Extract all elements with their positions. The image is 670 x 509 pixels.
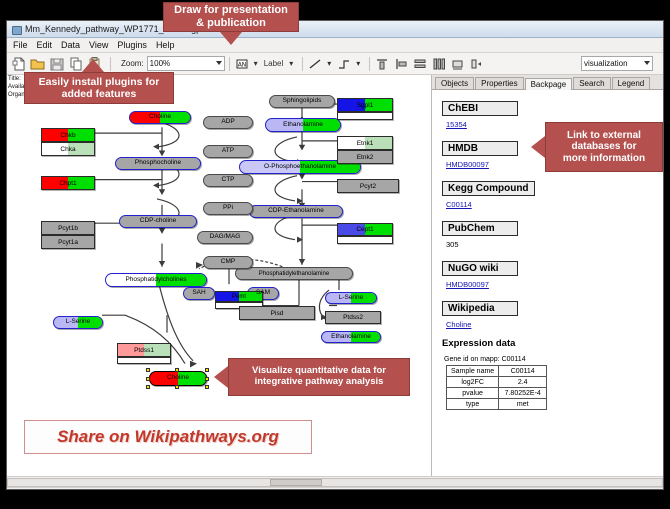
menu-view[interactable]: View: [89, 40, 108, 50]
menu-plugins[interactable]: Plugins: [117, 40, 147, 50]
cell-value: 2.4: [499, 377, 547, 388]
node-label: CDP-Ethanolamine: [268, 208, 324, 215]
gene-id-line: Gene id on mapp: C00114: [444, 356, 663, 363]
align-left-icon[interactable]: [393, 56, 409, 72]
selection-handle-w[interactable]: [146, 377, 150, 381]
toolbar-separator-3: [302, 57, 303, 71]
line-icon[interactable]: [307, 56, 323, 72]
group-icon[interactable]: [450, 56, 466, 72]
selection-handle-nw[interactable]: [146, 368, 150, 372]
selection-handle-ne[interactable]: [205, 368, 209, 372]
section-header-chebi: ChEBI: [442, 101, 518, 116]
callout-share: Share on Wikipathways.org: [24, 420, 312, 454]
cell-key: pvalue: [447, 388, 499, 399]
table-row: log2FC 2.4: [447, 377, 547, 388]
node-ctp[interactable]: CTP: [203, 174, 253, 187]
callout-link-arrow-icon: [531, 136, 545, 158]
zoom-value: 100%: [150, 59, 170, 68]
node-label: L-Serine: [339, 295, 364, 302]
visualization-combobox[interactable]: visualization: [581, 56, 653, 71]
gene-label: Chka: [60, 146, 75, 153]
label-dropdown-arrow[interactable]: ▾: [289, 59, 293, 68]
selection-handle-s[interactable]: [175, 385, 179, 389]
chevron-down-icon-2: [644, 61, 650, 65]
cell-value: C00114: [499, 366, 547, 377]
gene-chka[interactable]: Chka: [41, 142, 95, 156]
chevron-down-icon: [216, 61, 222, 65]
gene-pcyt1a[interactable]: Pcyt1a: [41, 235, 95, 249]
gene-ptdss1-lower[interactable]: [117, 357, 171, 364]
zoom-label: Zoom:: [121, 59, 144, 68]
line-dropdown-arrow[interactable]: ▾: [327, 59, 331, 68]
node-label: CTP: [222, 177, 235, 184]
node-ethanolamine[interactable]: Ethanolamine: [265, 118, 341, 132]
node-label: SAH: [192, 290, 205, 297]
gene-sgpl1-lower[interactable]: [337, 112, 393, 120]
node-choline-selected[interactable]: Choline: [149, 371, 207, 386]
section-header-nugo: NuGO wiki: [442, 261, 518, 276]
menubar: File Edit Data View Plugins Help: [7, 38, 663, 53]
gene-label: Pisd: [271, 310, 284, 317]
node-label: ADP: [221, 119, 234, 126]
node-ppi[interactable]: PPi: [203, 202, 253, 215]
gene-pisd[interactable]: Pisd: [239, 306, 315, 320]
datanode-dropdown-arrow[interactable]: ▾: [254, 59, 258, 68]
node-choline-top[interactable]: Choline: [129, 111, 191, 124]
callout-link-line2: databases for: [571, 141, 636, 153]
node-label: Sphingolipids: [283, 98, 322, 105]
node-label: ATP: [222, 148, 234, 155]
pathway-info-strip: Title: Availa Organ: [7, 75, 21, 117]
gene-chkb[interactable]: Chkb: [41, 128, 95, 142]
callout-link-line1: Link to external: [567, 130, 641, 142]
scrollbar-thumb[interactable]: [270, 479, 322, 486]
node-label: PPi: [223, 205, 233, 212]
gene-label: Cept1: [356, 226, 373, 233]
selection-handle-n[interactable]: [175, 368, 179, 372]
open-folder-icon[interactable]: [30, 56, 46, 72]
menu-data[interactable]: Data: [61, 40, 80, 50]
gene-label: Etnk2: [357, 154, 374, 161]
connector-dropdown-arrow[interactable]: ▾: [356, 59, 360, 68]
node-label: Choline: [149, 114, 171, 121]
scrollbar-track[interactable]: [7, 478, 663, 487]
node-l-serine-left[interactable]: L-Serine: [53, 316, 103, 329]
new-file-icon[interactable]: [11, 56, 27, 72]
callout-draw: Draw for presentation & publication: [163, 2, 299, 32]
side-panel-tabs: Objects Properties Backpage Search Legen…: [432, 75, 663, 90]
window-titlebar: Mm_Kennedy_pathway_WP1771_45176.gpml: [7, 21, 663, 38]
gene-label: Chkb: [60, 132, 75, 139]
node-label: SAM: [256, 290, 270, 297]
cell-value: met: [499, 399, 547, 410]
gene-etnk1[interactable]: Etnk1: [337, 136, 393, 150]
node-label: CDP-choline: [140, 218, 177, 225]
pathway-canvas[interactable]: Title: Availa Organ: [7, 75, 432, 476]
section-header-pubchem: PubChem: [442, 221, 518, 236]
callout-draw-line1: Draw for presentation: [174, 4, 288, 17]
value-pubchem: 305: [446, 240, 663, 249]
callout-visualize-arrow-icon: [214, 366, 228, 388]
tab-legend[interactable]: Legend: [612, 77, 651, 89]
selection-handle-se[interactable]: [205, 385, 209, 389]
callout-link-line3: more information: [563, 153, 645, 165]
info-title-label: Title:: [8, 75, 21, 83]
node-phosphocholine[interactable]: Phosphocholine: [115, 157, 201, 170]
selection-handle-e[interactable]: [205, 377, 209, 381]
align-top-icon[interactable]: [374, 56, 390, 72]
order-icon[interactable]: [469, 56, 485, 72]
node-label: Phosphatidylethanolamine: [259, 271, 329, 277]
zoom-combobox[interactable]: 100%: [147, 56, 225, 71]
table-row: Sample name C00114: [447, 366, 547, 377]
node-label: DAG/MAG: [210, 234, 241, 241]
menu-help[interactable]: Help: [156, 40, 175, 50]
cell-key: Sample name: [447, 366, 499, 377]
callout-plugins-line2: added features: [62, 88, 137, 100]
gene-label: Pcyt2: [360, 183, 376, 190]
node-label: CMP: [221, 259, 235, 266]
distribute-icon[interactable]: [431, 56, 447, 72]
node-sah[interactable]: SAH: [183, 287, 215, 300]
tab-objects[interactable]: Objects: [435, 77, 474, 89]
gene-pcyt2[interactable]: Pcyt2: [337, 179, 399, 193]
node-sphingolipids[interactable]: Sphingolipids: [269, 95, 335, 108]
gene-label: Ptdss1: [134, 347, 154, 354]
visualization-value: visualization: [584, 59, 628, 68]
gene-ptdss1[interactable]: Ptdss1: [117, 343, 171, 357]
node-cdp-ethanolamine[interactable]: CDP-Ethanolamine: [249, 205, 343, 218]
menu-edit[interactable]: Edit: [37, 40, 53, 50]
section-header-hmdb: HMDB: [442, 141, 518, 156]
screenshot-root: Mm_Kennedy_pathway_WP1771_45176.gpml Fil…: [0, 0, 670, 509]
label-tool-label[interactable]: Label: [264, 59, 284, 68]
toolbar-separator-4: [369, 57, 370, 71]
node-l-serine-right[interactable]: L-Serine: [325, 292, 377, 304]
callout-plugins: Easily install plugins for added feature…: [24, 72, 174, 104]
connector-icon[interactable]: [336, 56, 352, 72]
cell-key: type: [447, 399, 499, 410]
cell-value: 7.80252E-4: [499, 388, 547, 399]
pathvisio-icon: [11, 24, 21, 34]
node-phosphatidylcholines[interactable]: Phosphatidylcholines: [105, 273, 207, 287]
gene-label: Pemt: [232, 294, 246, 300]
node-label: Phosphatidylcholines: [125, 277, 186, 284]
node-atp[interactable]: ATP: [203, 145, 253, 158]
gene-label: Sgpl1: [357, 102, 374, 109]
datanode-icon[interactable]: AN: [234, 56, 250, 72]
gene-label: Ptdss2: [343, 314, 363, 321]
gene-cept1-lower[interactable]: [337, 236, 393, 244]
gene-label: Pcyt1b: [58, 225, 78, 232]
section-header-kegg: Kegg Compound: [442, 181, 535, 196]
node-dagmag[interactable]: DAG/MAG: [197, 231, 253, 244]
horizontal-scrollbar[interactable]: [7, 476, 663, 487]
node-adp[interactable]: ADP: [203, 116, 253, 129]
callout-visualize-line2: integrative pathway analysis: [255, 377, 384, 388]
expression-data-title: Expression data: [442, 338, 663, 349]
node-label: O-Phosphoethanolamine: [264, 164, 336, 171]
table-row: pvalue 7.80252E-4: [447, 388, 547, 399]
node-cmp[interactable]: CMP: [203, 256, 253, 269]
gene-etnk2[interactable]: Etnk2: [337, 150, 393, 164]
callout-link: Link to external databases for more info…: [545, 122, 663, 172]
link-kegg[interactable]: C00114: [446, 200, 663, 209]
node-label: Ethanolamine: [331, 334, 371, 341]
node-label: Ethanolamine: [283, 122, 323, 129]
table-row: type met: [447, 399, 547, 410]
section-header-wikipedia: Wikipedia: [442, 301, 518, 316]
callout-draw-arrow-icon: [220, 32, 242, 45]
gene-label: Chpt1: [59, 180, 76, 187]
tab-search[interactable]: Search: [573, 77, 610, 89]
cell-key: log2FC: [447, 377, 499, 388]
save-icon[interactable]: [49, 56, 65, 72]
node-label: Phosphocholine: [135, 160, 181, 167]
toolbar-separator-2: [229, 57, 230, 71]
callout-plugins-arrow-icon: [82, 59, 104, 72]
node-phosphatidylethanolamine[interactable]: Phosphatidylethanolamine: [235, 267, 353, 280]
statusbar: | Gene database: ...m_Derby_20120602.bri…: [7, 487, 663, 490]
callout-plugins-line1: Easily install plugins for: [39, 76, 160, 88]
tab-properties[interactable]: Properties: [475, 77, 523, 89]
stack-icon[interactable]: [412, 56, 428, 72]
node-label: L-Serine: [66, 319, 91, 326]
gene-pcyt1b[interactable]: Pcyt1b: [41, 221, 95, 235]
selection-handle-sw[interactable]: [146, 385, 150, 389]
toolbar-separator: [110, 57, 111, 71]
link-nugo[interactable]: HMDB00097: [446, 280, 663, 289]
node-cdp-choline[interactable]: CDP-choline: [119, 215, 197, 228]
link-wikipedia[interactable]: Choline: [446, 320, 663, 329]
gene-label: Pcyt1a: [58, 239, 78, 246]
expression-table: Sample name C00114 log2FC 2.4 pvalue 7.8…: [446, 365, 547, 410]
svg-text:AN: AN: [237, 61, 246, 68]
gene-sgpl1[interactable]: Sgpl1: [337, 98, 393, 112]
gene-chpt1[interactable]: Chpt1: [41, 176, 95, 190]
callout-draw-line2: & publication: [196, 17, 266, 30]
gene-label: Etnk1: [357, 140, 374, 147]
gene-cept1[interactable]: Cept1: [337, 223, 393, 236]
info-organism-label: Organ: [8, 91, 21, 99]
callout-visualize: Visualize quantitative data for integrat…: [228, 358, 410, 396]
node-label: Choline: [167, 375, 189, 382]
menu-file[interactable]: File: [13, 40, 28, 50]
gene-ptdss2[interactable]: Ptdss2: [325, 311, 381, 324]
callout-share-text: Share on Wikipathways.org: [57, 427, 279, 447]
info-available-label: Availa: [8, 83, 21, 91]
tab-backpage[interactable]: Backpage: [525, 78, 573, 90]
node-ethanolamine-right[interactable]: Ethanolamine: [321, 331, 381, 343]
